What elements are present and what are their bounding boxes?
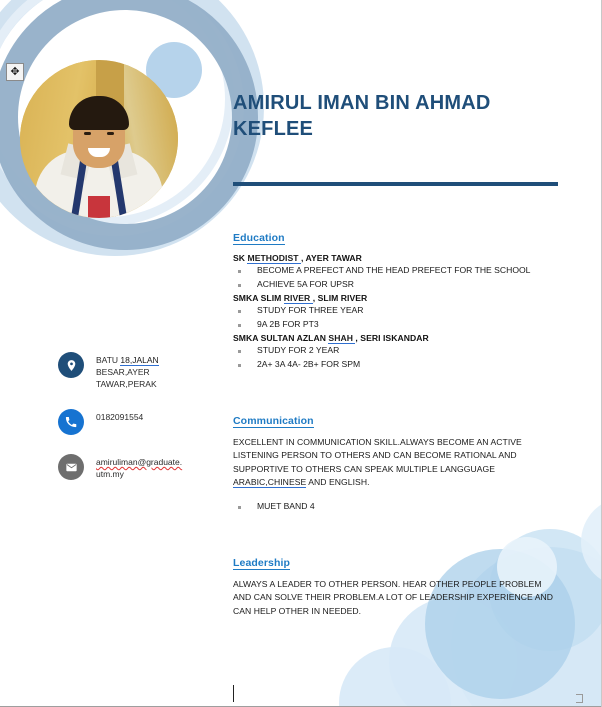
decorative-bubble: [581, 497, 602, 587]
contact-item-phone: 0182091554: [58, 409, 223, 435]
section-education: Education SK METHODIST , AYER TAWAR BECO…: [233, 228, 558, 372]
header-divider: [233, 182, 558, 186]
address-line2: BESAR,AYER: [96, 367, 150, 377]
education-bullets: BECOME A PREFECT AND THE HEAD PREFECT FO…: [233, 264, 558, 292]
contact-item-address: BATU 18,JALANBESAR,AYERTAWAR,PERAK: [58, 352, 223, 390]
contact-phone-text: 0182091554: [96, 409, 143, 423]
decorative-brush-ring-slate: [0, 0, 258, 250]
text-cursor: [233, 685, 234, 702]
list-item: STUDY FOR 2 YEAR: [233, 344, 558, 358]
communication-link: ARABIC,CHINESE: [233, 477, 306, 488]
communication-text-part1: EXCELLENT IN COMMUNICATION SKILL.ALWAYS …: [233, 437, 522, 474]
education-bullets: STUDY FOR THREE YEAR 9A 2B FOR PT3: [233, 304, 558, 332]
location-pin-icon: [58, 352, 84, 378]
list-item: MUET BAND 4: [233, 500, 558, 514]
contact-item-email: amiruliman@graduate.utm.my: [58, 454, 223, 480]
section-heading-leadership: Leadership: [233, 557, 290, 570]
page-title: AMIRUL IMAN BIN AHMAD KEFLEE: [233, 90, 563, 143]
phone-icon: [58, 409, 84, 435]
address-line1-link: 18,JALAN: [120, 355, 158, 366]
communication-text-part2: AND ENGLISH.: [306, 477, 369, 487]
decorative-brush-ring-light: [0, 0, 234, 226]
school-link: METHODIST: [247, 253, 301, 264]
list-item: 2A+ 3A 4A- 2B+ FOR SPM: [233, 358, 558, 372]
school-prefix: SMKA SLIM: [233, 293, 284, 303]
section-communication: Communication EXCELLENT IN COMMUNICATION…: [233, 411, 558, 514]
contact-email-text: amiruliman@graduate.utm.my: [96, 454, 182, 480]
education-bullets: STUDY FOR 2 YEAR 2A+ 3A 4A- 2B+ FOR SPM: [233, 344, 558, 372]
school-suffix: , SERI ISKANDAR: [355, 333, 428, 343]
section-heading-communication: Communication: [233, 415, 314, 428]
decorative-accent-circle: [146, 42, 202, 98]
address-line1-prefix: BATU: [96, 355, 120, 365]
education-entry-school: SMKA SULTAN AZLAN SHAH , SERI ISKANDAR: [233, 333, 558, 343]
address-line3: TAWAR,PERAK: [96, 379, 157, 389]
contact-address-text: BATU 18,JALANBESAR,AYERTAWAR,PERAK: [96, 352, 159, 390]
email-address-part2: utm.my: [96, 469, 124, 479]
school-prefix: SMKA SULTAN AZLAN: [233, 333, 328, 343]
leadership-paragraph: ALWAYS A LEADER TO OTHER PERSON. HEAR OT…: [233, 578, 558, 619]
list-item: 9A 2B FOR PT3: [233, 318, 558, 332]
decorative-brush-ring-outer: [0, 0, 264, 256]
school-link: RIVER: [284, 293, 313, 304]
email-icon: [58, 454, 84, 480]
section-heading-education: Education: [233, 232, 285, 245]
school-link: SHAH: [328, 333, 355, 344]
profile-photo: [20, 60, 178, 218]
main-content: Education SK METHODIST , AYER TAWAR BECO…: [233, 228, 558, 619]
page-end-mark: [576, 694, 583, 703]
email-address-part1: amiruliman@graduate.: [96, 457, 182, 467]
school-suffix: , SLIM RIVER: [313, 293, 368, 303]
list-item: BECOME A PREFECT AND THE HEAD PREFECT FO…: [233, 264, 558, 278]
communication-bullets: MUET BAND 4: [233, 500, 558, 514]
school-prefix: SK: [233, 253, 247, 263]
education-entry-school: SMKA SLIM RIVER , SLIM RIVER: [233, 293, 558, 303]
move-handle-icon[interactable]: ✥: [6, 63, 24, 81]
section-leadership: Leadership ALWAYS A LEADER TO OTHER PERS…: [233, 553, 558, 619]
document-page: ✥ AMIRUL IMAN BIN AHMAD KEFLEE BATU 18,J…: [0, 0, 602, 707]
list-item: STUDY FOR THREE YEAR: [233, 304, 558, 318]
list-item: ACHIEVE 5A FOR UPSR: [233, 278, 558, 292]
school-suffix: , AYER TAWAR: [301, 253, 362, 263]
communication-paragraph: EXCELLENT IN COMMUNICATION SKILL.ALWAYS …: [233, 436, 558, 490]
education-entry-school: SK METHODIST , AYER TAWAR: [233, 253, 558, 263]
decorative-bubble: [339, 647, 451, 707]
contact-list: BATU 18,JALANBESAR,AYERTAWAR,PERAK 01820…: [58, 352, 223, 499]
